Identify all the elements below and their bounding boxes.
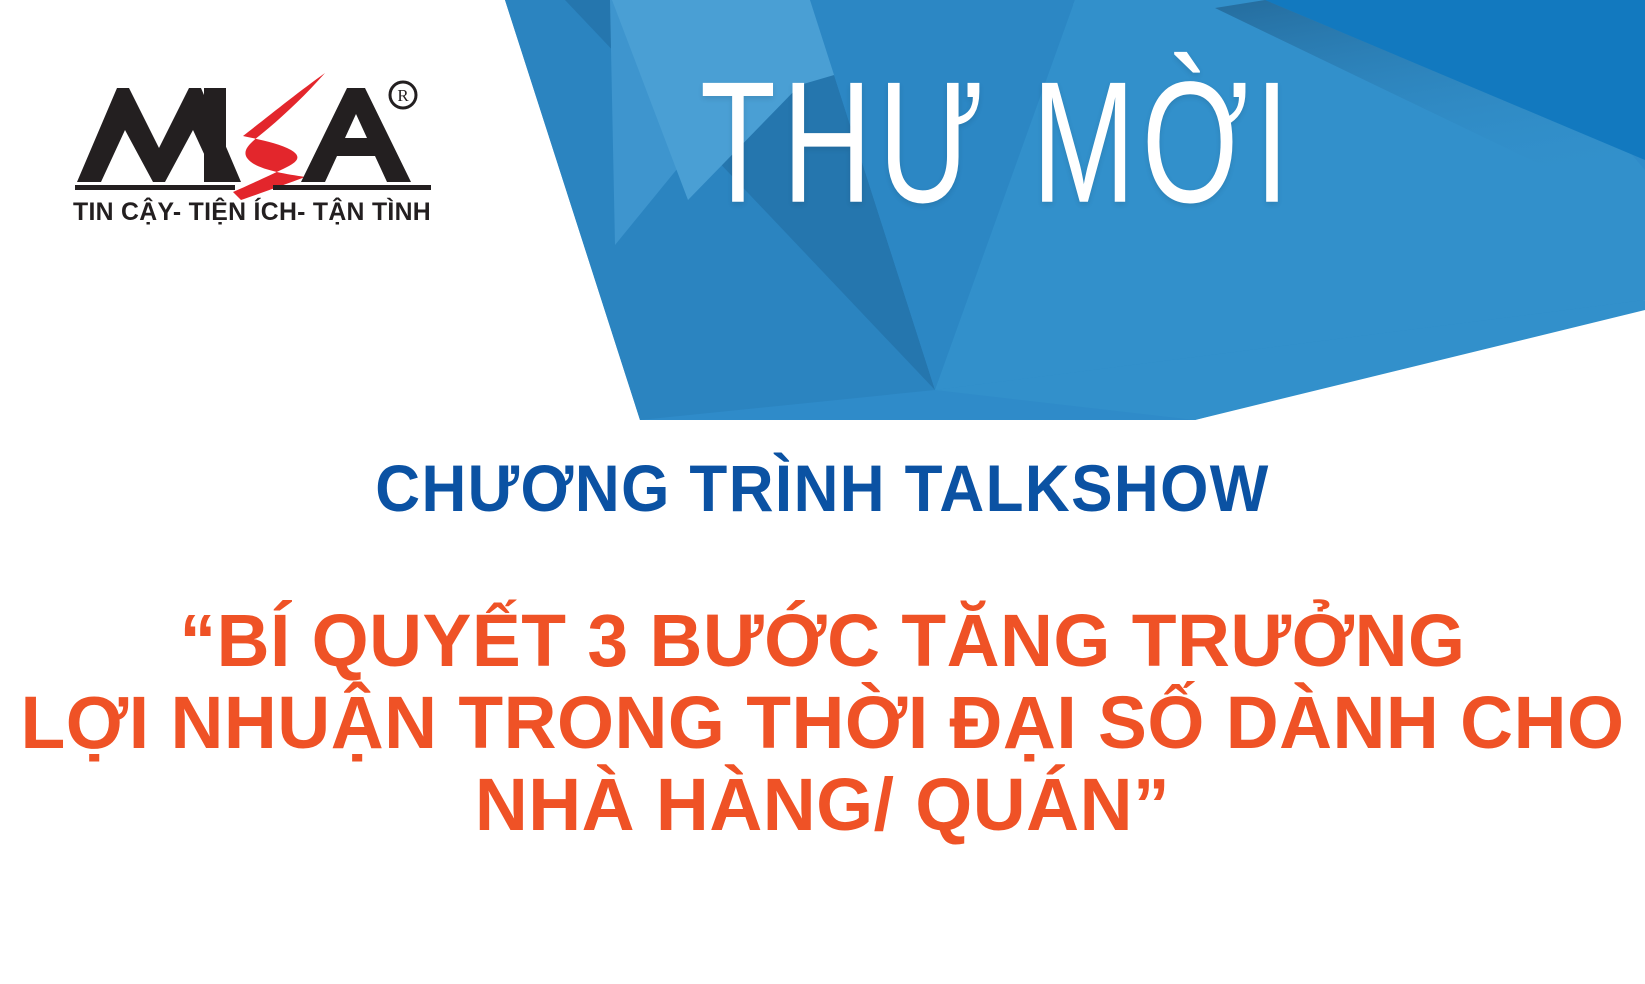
program-heading-block: CHƯƠNG TRÌNH TALKSHOW [0, 455, 1645, 521]
logo-tagline: TIN CẬY- TIỆN ÍCH- TẬN TÌNH [73, 196, 431, 225]
quote-line-2: LỢI NHUẬN TRONG THỜI ĐẠI SỐ DÀNH CHO [8, 682, 1637, 764]
misa-logo: R TIN CẬY- TIỆN ÍCH- TẬN TÌNH [73, 70, 433, 225]
quote-line-3: NHÀ HÀNG/ QUÁN” [8, 764, 1637, 846]
misa-logo-graphic: R TIN CẬY- TIỆN ÍCH- TẬN TÌNH [73, 70, 433, 225]
program-label: CHƯƠNG TRÌNH TALKSHOW [49, 455, 1595, 521]
invitation-poster: THƯ MỜI R TIN CẬY- TIỆN ÍCH- TẬN TÌNH [0, 0, 1645, 984]
logo-rule-left [75, 185, 235, 190]
quote-line-1: “BÍ QUYẾT 3 BƯỚC TĂNG TRƯỞNG [8, 600, 1637, 682]
logo-rule-right [273, 185, 431, 190]
logo-letter-i [204, 88, 226, 182]
logo-registered-icon: R [390, 82, 416, 108]
quote-headline-block: “BÍ QUYẾT 3 BƯỚC TĂNG TRƯỞNG LỢI NHUẬN T… [0, 600, 1645, 846]
logo-letter-a [301, 88, 411, 182]
banner-title: THƯ MỜI [700, 52, 1344, 233]
svg-text:R: R [397, 86, 409, 105]
